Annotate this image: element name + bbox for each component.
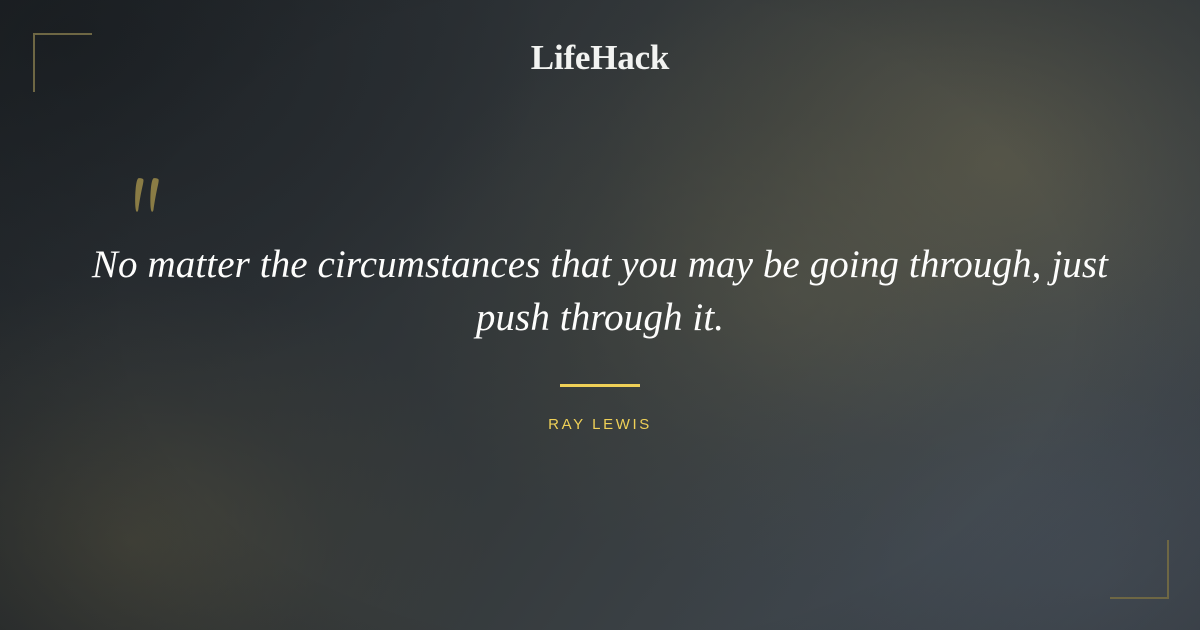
- author-divider: [560, 384, 640, 387]
- lifehack-logo: LifeHack: [0, 40, 1200, 75]
- quote-text: No matter the circumstances that you may…: [90, 238, 1110, 344]
- quote-card: LifeHack No matter the circumstances tha…: [0, 0, 1200, 630]
- quote-author: RAY LEWIS: [0, 415, 1200, 435]
- corner-bracket-bottom-right-icon: [1110, 540, 1169, 599]
- double-quote-mark-icon: [133, 176, 173, 218]
